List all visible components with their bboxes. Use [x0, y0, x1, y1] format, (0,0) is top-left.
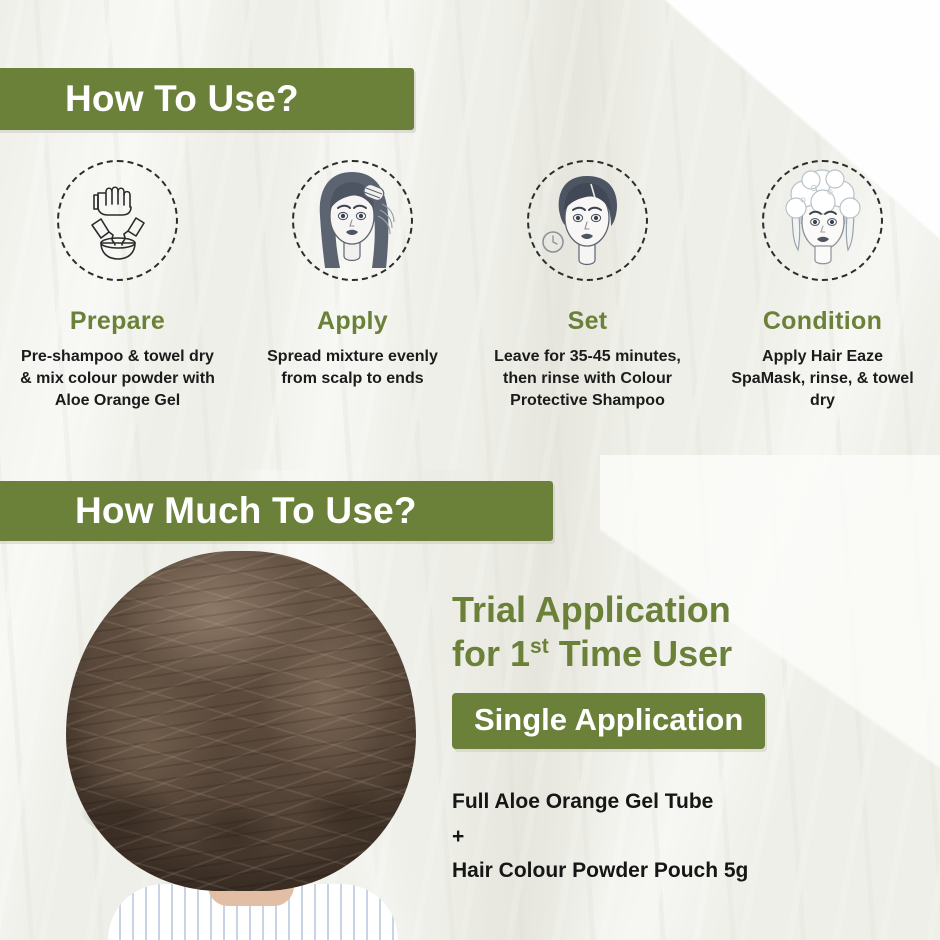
kit-content-item: Full Aloe Orange Gel Tube — [452, 785, 922, 819]
step-apply: Apply Spread mixture evenly from scalp t… — [235, 160, 470, 450]
single-application-badge: Single Application — [452, 693, 765, 749]
headline-line-2-after: Time User — [549, 633, 732, 674]
step-title: Apply — [317, 307, 388, 336]
trial-application-headline: Trial Application for 1st Time User — [452, 588, 922, 675]
kit-content-plus: + — [452, 820, 922, 854]
step-description: Pre-shampoo & towel dry & mix colour pow… — [18, 346, 218, 411]
headline-line-2-before: for 1 — [452, 633, 530, 674]
step-set: Set Leave for 35-45 minutes, then rinse … — [470, 160, 705, 450]
glove-tube-bowl-icon — [57, 160, 178, 281]
step-description: Leave for 35-45 minutes, then rinse with… — [480, 346, 695, 411]
banner-how-much-to-use: How Much To Use? — [0, 481, 553, 541]
banner-how-to-use: How To Use? — [0, 68, 414, 130]
headline-line-1: Trial Application — [452, 588, 922, 632]
step-title: Condition — [763, 307, 882, 336]
headline-ordinal-suffix: st — [530, 635, 549, 658]
step-title: Set — [568, 307, 608, 336]
how-much-text-block: Trial Application for 1st Time User Sing… — [452, 588, 922, 888]
steps-row: Prepare Pre-shampoo & towel dry & mix co… — [0, 160, 940, 450]
woman-hair-set-timer-icon — [527, 160, 648, 281]
single-application-label: Single Application — [474, 702, 743, 738]
hair-mass — [66, 551, 416, 891]
woman-applying-brush-icon — [292, 160, 413, 281]
kit-content-item: Hair Colour Powder Pouch 5g — [452, 854, 922, 888]
back-of-head-brown-bob-hair-photo — [48, 545, 440, 940]
infographic-page: How To Use? — [0, 0, 940, 940]
step-condition: Condition Apply Hair Eaze SpaMask, rinse… — [705, 160, 940, 450]
step-title: Prepare — [70, 307, 165, 336]
step-description: Spread mixture evenly from scalp to ends — [263, 346, 443, 390]
banner-how-to-use-label: How To Use? — [65, 78, 299, 120]
headline-line-2: for 1st Time User — [452, 632, 922, 676]
kit-contents-list: Full Aloe Orange Gel Tube + Hair Colour … — [452, 785, 922, 888]
banner-how-much-to-use-label: How Much To Use? — [75, 490, 417, 532]
woman-lather-conditioner-icon — [762, 160, 883, 281]
step-prepare: Prepare Pre-shampoo & towel dry & mix co… — [0, 160, 235, 450]
step-description: Apply Hair Eaze SpaMask, rinse, & towel … — [728, 346, 918, 411]
